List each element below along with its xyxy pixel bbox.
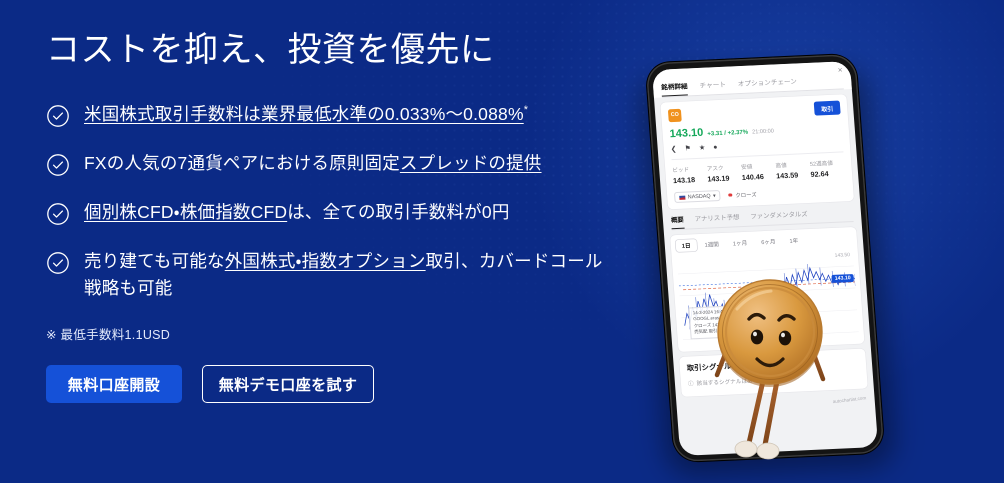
benefit-lead: 売り建ても可能な: [84, 251, 225, 271]
quote-change: +3.31 / +2.37%: [707, 130, 748, 138]
star-icon[interactable]: ★: [699, 145, 706, 152]
benefit-link[interactable]: スプレッドの提供: [400, 153, 542, 173]
detail-tab-bar: 概要 アナリスト予想 ファンダメンタルズ: [671, 207, 854, 230]
price-row: 143.10 +3.31 / +2.37% 21:00:00: [669, 120, 842, 140]
stats-value-cell: 140.46: [742, 171, 777, 182]
range-6m[interactable]: 6ヶ月: [755, 235, 782, 248]
trade-button[interactable]: 取引: [814, 101, 841, 116]
quote-header: CO 取引: [668, 101, 841, 123]
quote-card: CO 取引 143.10 +3.31 / +2.37% 21:00:00 ❮ ⚑…: [660, 94, 854, 209]
benefit-text: FXの人気の7通貨ペアにおける原則固定スプレッドの提供: [84, 150, 542, 177]
range-1d[interactable]: 1日: [675, 239, 697, 252]
chart-watermark: autochartist.com: [833, 395, 867, 404]
list-item: 米国株式取引手数料は業界最低水準の0.033%〜0.088%*: [46, 101, 646, 128]
app-topbar: × 銘柄詳細 チャート オプションチェーン: [652, 61, 852, 98]
stats-header-cell: 安値: [741, 161, 776, 171]
market-status-label: クローズ: [735, 190, 757, 199]
signup-button[interactable]: 無料口座開設: [46, 365, 182, 403]
hero-content-column: コストを抑え、投資を優先に 米国株式取引手数料は業界最低水準の0.033%〜0.…: [46, 0, 646, 483]
cta-row: 無料口座開設 無料デモ口座を試す: [46, 365, 646, 403]
check-circle-icon: [46, 202, 70, 226]
range-1m[interactable]: 1ヶ月: [726, 237, 753, 250]
mascot-eye: [751, 330, 763, 345]
stats-header-cell: 高値: [775, 160, 810, 170]
list-item: 個別株CFD・株価指数CFDは、全ての取引手数料が0円: [46, 199, 646, 226]
check-circle-icon: [46, 104, 70, 128]
stats-value-cell: 143.19: [707, 173, 742, 184]
chart-axis-label-top: 143.50: [835, 252, 851, 259]
coin-mascot: [713, 275, 833, 475]
us-flag-icon: [679, 195, 685, 199]
benefit-text: 売り建ても可能な外国株式・指数オプション取引、カバードコール戦略も可能: [84, 248, 604, 302]
tab-stock-detail[interactable]: 銘柄詳細: [661, 80, 688, 96]
benefit-text: 米国株式取引手数料は業界最低水準の0.033%〜0.088%*: [84, 101, 528, 128]
stats-value-cell: 143.18: [673, 175, 708, 186]
tab-chart[interactable]: チャート: [699, 79, 726, 95]
exchange-selector[interactable]: NASDAQ ▾: [674, 190, 721, 203]
benefit-link[interactable]: 個別株CFD・株価指数CFD: [84, 202, 287, 222]
tab-fundamentals[interactable]: ファンダメンタルズ: [750, 209, 808, 226]
mascot-eye: [779, 331, 791, 346]
list-item: 売り建ても可能な外国株式・指数オプション取引、カバードコール戦略も可能: [46, 248, 646, 302]
bell-icon[interactable]: ⚑: [684, 145, 691, 152]
page-title: コストを抑え、投資を優先に: [46, 30, 646, 71]
list-item: FXの人気の7通貨ペアにおける原則固定スプレッドの提供: [46, 150, 646, 177]
benefit-link[interactable]: 外国株式・指数オプション: [225, 251, 426, 271]
stats-table: ビッド アスク 安値 高値 52週高値 143.18 143.19 140.46…: [672, 158, 845, 185]
quote-action-icons: ❮ ⚑ ★ ●: [671, 138, 844, 160]
quote-price: 143.10: [669, 127, 704, 140]
tab-option-chain[interactable]: オプションチェーン: [737, 75, 797, 93]
benefit-link[interactable]: 米国株式取引手数料は業界最低水準の0.033%〜0.088%: [84, 104, 524, 124]
mascot-shoe: [735, 441, 757, 457]
benefit-list: 米国株式取引手数料は業界最低水準の0.033%〜0.088%* FXの人気の7通…: [46, 101, 646, 303]
check-circle-icon: [46, 251, 70, 275]
stats-header-cell: ビッド: [672, 165, 707, 175]
stats-header-cell: 52週高値: [810, 158, 845, 168]
close-icon[interactable]: ×: [837, 65, 842, 74]
quote-timestamp: 21:00:00: [752, 129, 774, 136]
benefit-lead: FXの人気の7通貨ペアにおける原則固定: [84, 153, 400, 173]
chevron-down-icon: ▾: [713, 193, 716, 199]
stats-value-cell: 92.64: [810, 168, 845, 179]
footnote-marker: *: [524, 102, 528, 119]
benefit-tail: は、全ての取引手数料が0円: [287, 202, 509, 222]
market-status-badge: クローズ: [728, 190, 756, 199]
ticker-logo: CO: [668, 108, 682, 122]
chart-price-flag: 143.10: [832, 274, 854, 283]
exchange-row: NASDAQ ▾ クローズ: [674, 184, 847, 203]
status-dot-icon: [729, 193, 733, 197]
exchange-name: NASDAQ: [688, 193, 711, 200]
info-icon: ⓘ: [688, 379, 694, 387]
info-icon[interactable]: ●: [713, 144, 718, 151]
tab-analyst-forecast[interactable]: アナリスト予想: [694, 212, 740, 228]
tab-overview[interactable]: 概要: [671, 215, 685, 230]
footnote: ※ 最低手数料1.1USD: [46, 324, 646, 343]
range-1w[interactable]: 1週間: [698, 238, 725, 251]
benefit-text: 個別株CFD・株価指数CFDは、全ての取引手数料が0円: [84, 199, 510, 226]
app-tab-bar: 銘柄詳細 チャート オプションチェーン: [661, 73, 844, 97]
mascot-shoe: [757, 443, 779, 459]
stats-value-cell: 143.59: [776, 170, 811, 181]
check-circle-icon: [46, 153, 70, 177]
stats-header-cell: アスク: [706, 163, 741, 173]
demo-account-button[interactable]: 無料デモ口座を試す: [202, 365, 374, 403]
range-1y[interactable]: 1年: [783, 234, 805, 247]
share-icon[interactable]: ❮: [671, 146, 677, 153]
